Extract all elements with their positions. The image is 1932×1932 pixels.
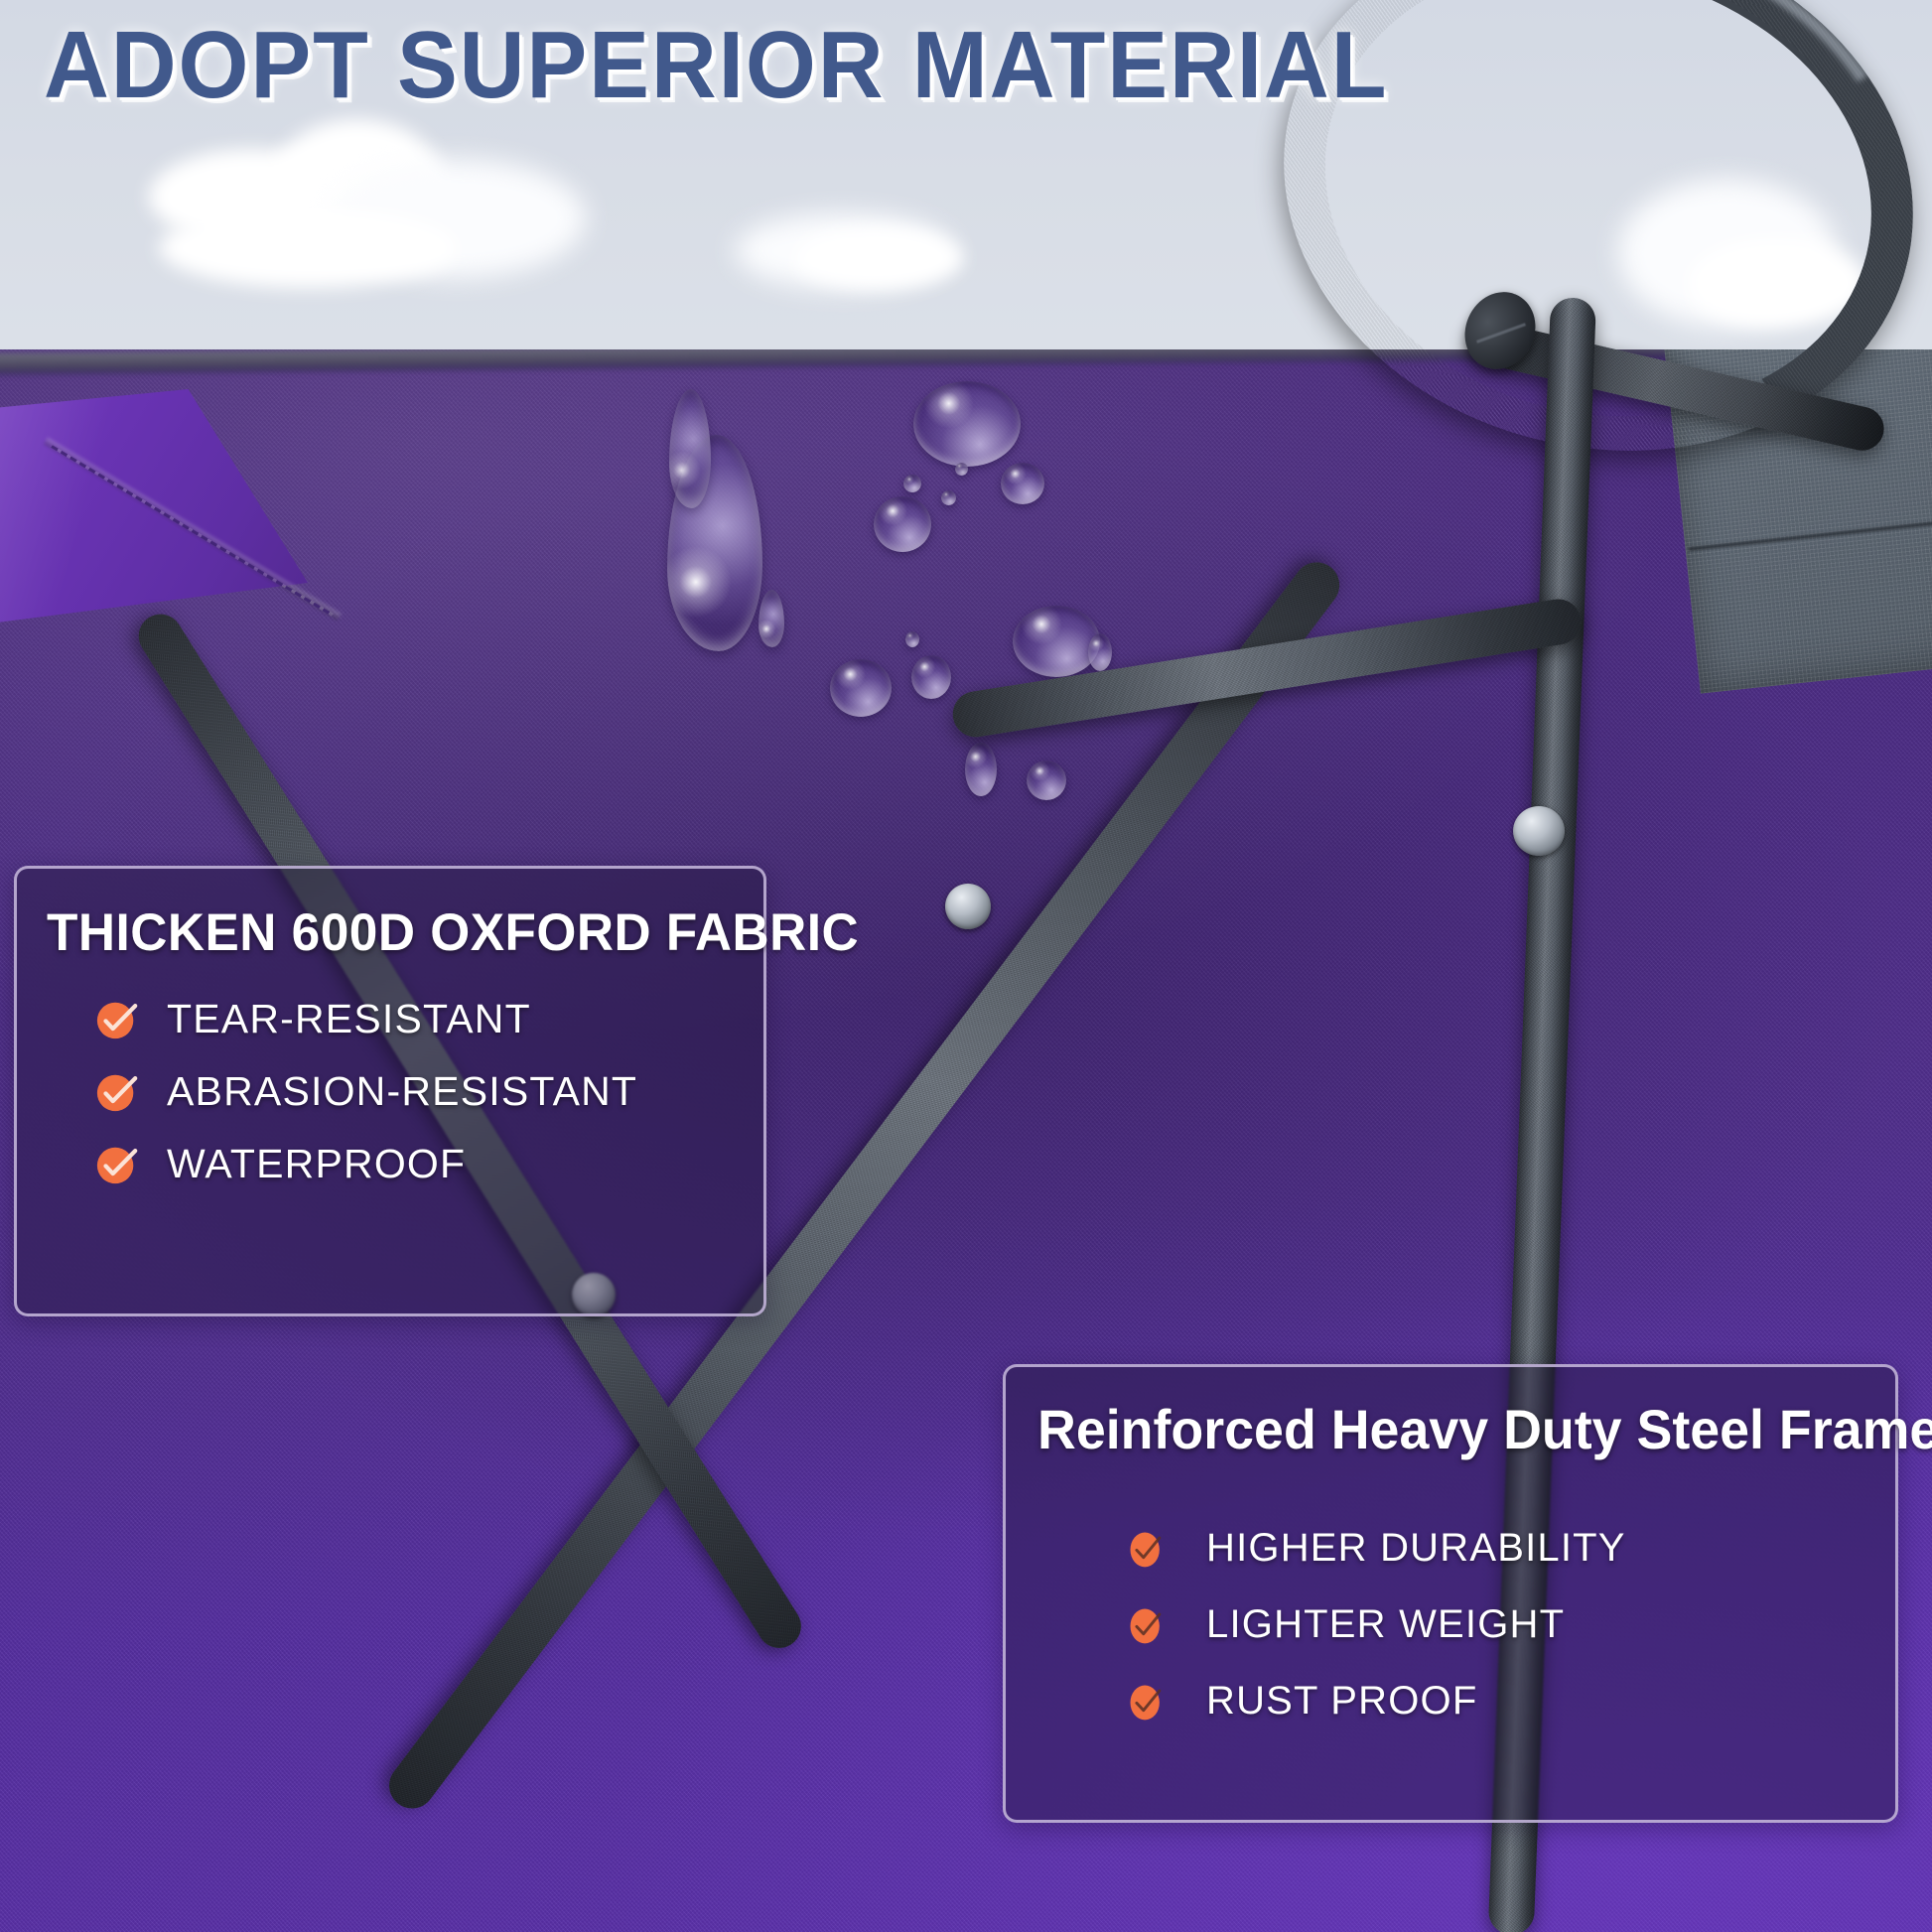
callout-frame-title: Reinforced Heavy Duty Steel Frame [1037,1397,1932,1461]
list-item: TEAR-RESISTANT [94,996,637,1042]
callout-frame-features: Reinforced Heavy Duty Steel Frame HIGHER… [1003,1364,1898,1823]
water-droplet-mini-d [905,631,919,647]
callout-fabric-features: THICKEN 600D OXFORD FABRIC TEAR-RESISTAN… [14,866,766,1316]
list-item-label: RUST PROOF [1206,1679,1478,1724]
check-circle-icon [1125,1527,1169,1571]
water-droplet-small-tear [759,590,784,647]
water-droplet-mid-b [830,659,892,717]
water-droplet-right-b [1088,633,1112,671]
check-circle-icon [94,1069,140,1115]
water-droplet-mini-a [903,475,921,492]
list-item-label: LIGHTER WEIGHT [1206,1602,1565,1647]
steel-frame-rivet-crossbar-right [1513,806,1565,856]
check-circle-icon [1125,1680,1169,1724]
check-circle-icon [1125,1603,1169,1647]
list-item: ABRASION-RESISTANT [94,1068,637,1115]
cloud-4 [159,208,457,288]
callout-fabric-title: THICKEN 600D OXFORD FABRIC [47,902,859,963]
list-item: WATERPROOF [94,1141,637,1187]
list-item-label: WATERPROOF [167,1141,466,1187]
list-item: LIGHTER WEIGHT [1125,1602,1626,1647]
water-droplet-small-a [1001,463,1044,504]
steel-frame-rivet-crossbar-left [945,884,991,929]
list-item: HIGHER DURABILITY [1125,1526,1626,1571]
callout-fabric-bullet-list: TEAR-RESISTANT ABRASION-RESISTANT WATERP… [94,996,637,1187]
list-item: RUST PROOF [1125,1679,1626,1724]
check-circle-icon [94,1142,140,1187]
list-item-label: HIGHER DURABILITY [1206,1526,1626,1571]
cloud-6 [794,228,963,288]
water-droplet-mini-c [955,463,968,476]
water-droplet-top-right [913,381,1021,467]
water-droplet-bottom-b [1027,760,1066,800]
water-droplet-bottom-a [965,743,997,796]
water-droplet-right-a [1013,606,1100,677]
page-title: ADOPT SUPERIOR MATERIAL [44,18,1388,113]
water-droplet-mid-c [911,655,951,699]
check-circle-icon [94,997,140,1042]
product-feature-graphic: ADOPT SUPERIOR MATERIAL THICKEN 600D OXF… [0,0,1932,1932]
list-item-label: TEAR-RESISTANT [167,996,531,1042]
callout-frame-bullet-list: HIGHER DURABILITY LIGHTER WEIGHT RUST PR… [1125,1526,1626,1724]
water-droplet-mini-b [941,490,956,505]
water-droplet-mid-a [874,496,931,552]
list-item-label: ABRASION-RESISTANT [167,1068,637,1115]
